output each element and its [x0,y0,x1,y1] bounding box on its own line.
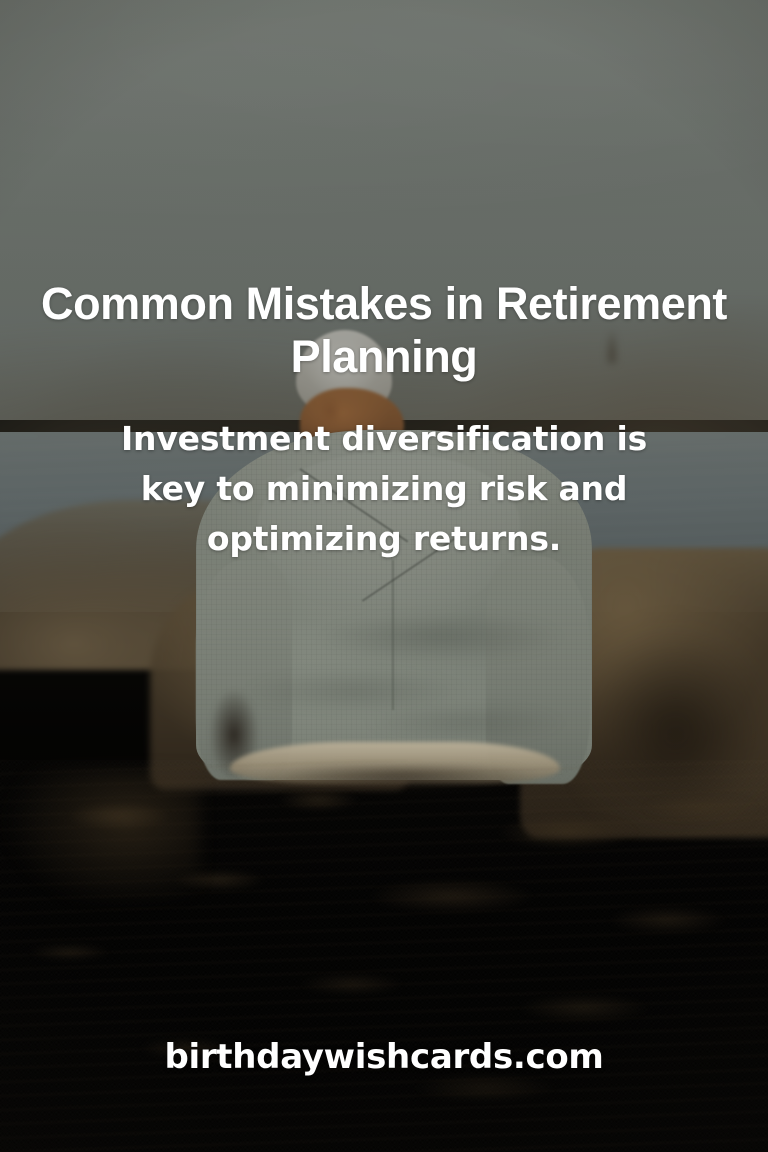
text-overlay: Common Mistakes in Retirement Planning I… [0,0,768,1152]
site-watermark: birthdaywishcards.com [0,1037,768,1077]
headline: Common Mistakes in Retirement Planning [0,278,768,383]
subheadline: Investment diversification is key to min… [84,414,684,564]
quote-card: Common Mistakes in Retirement Planning I… [0,0,768,1152]
